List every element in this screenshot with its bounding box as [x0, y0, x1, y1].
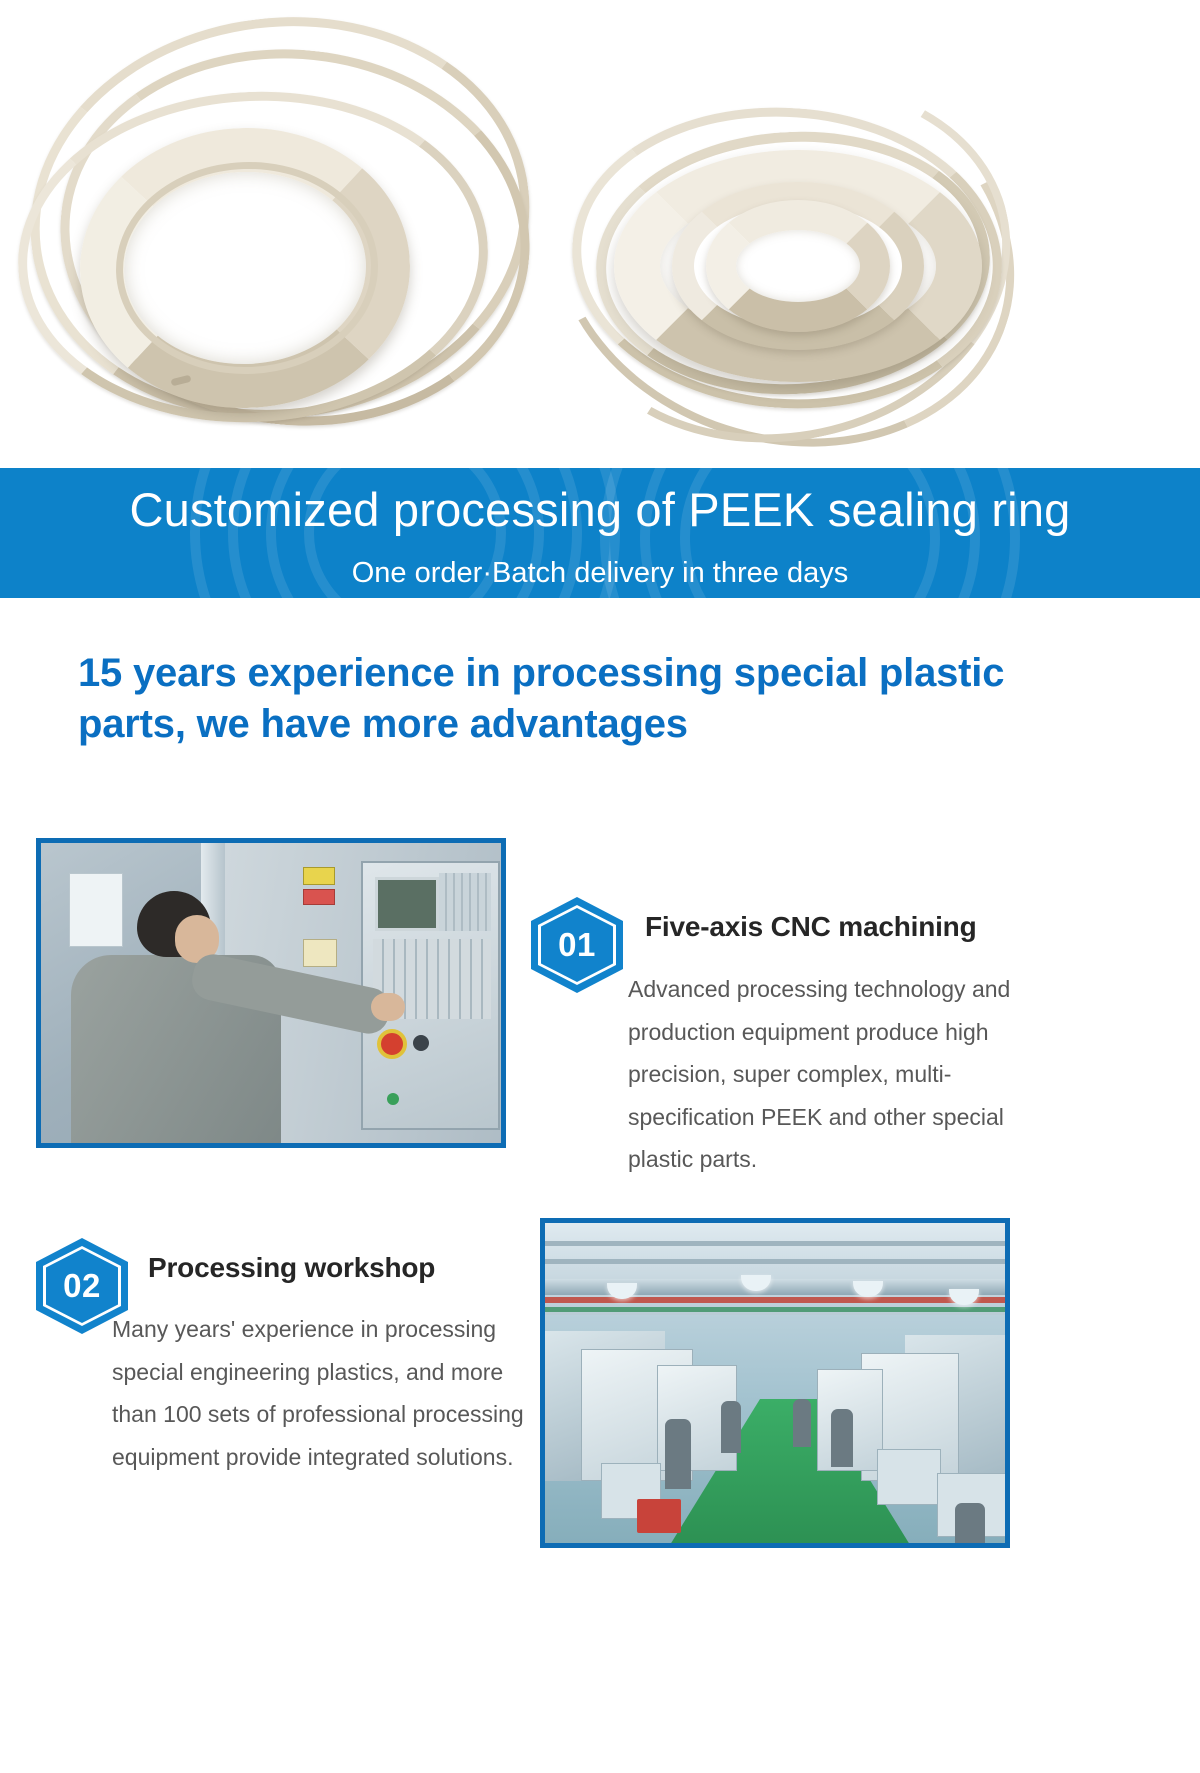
- worker-right-2: [955, 1503, 985, 1543]
- feature-02-title: Processing workshop: [148, 1252, 435, 1284]
- feature-02-description: Many years' experience in processing spe…: [112, 1308, 532, 1478]
- work-cart-right-1: [877, 1449, 941, 1505]
- cnc-status-light: [387, 1093, 399, 1105]
- cnc-selector-knob: [413, 1035, 429, 1051]
- operator-hand: [371, 993, 405, 1021]
- hero-product-photo: [0, 0, 1200, 470]
- workshop-green-pipe: [545, 1307, 1005, 1312]
- warning-label-3: [303, 939, 337, 967]
- promo-banner: Customized processing of PEEK sealing ri…: [0, 468, 1200, 598]
- feature-02-photo-scene: [545, 1223, 1005, 1543]
- cnc-display-screen: [375, 877, 439, 931]
- ceiling-beam-1: [545, 1241, 1005, 1246]
- feature-01-description: Advanced processing technology and produ…: [628, 968, 1058, 1181]
- warning-label-2: [303, 889, 335, 905]
- feature-01-number: 01: [531, 897, 623, 993]
- banner-subtitle: One order·Batch delivery in three days: [0, 533, 1200, 588]
- worker-center-2: [793, 1399, 811, 1447]
- banner-text-group: Customized processing of PEEK sealing ri…: [0, 468, 1200, 588]
- worker-left: [665, 1419, 691, 1489]
- ceiling-beam-2: [545, 1259, 1005, 1264]
- feature-01-photo-scene: [41, 843, 501, 1143]
- worker-center-1: [721, 1401, 741, 1453]
- hero-rings-illustration: [0, 0, 1200, 470]
- section-headline: 15 years experience in processing specia…: [78, 648, 1078, 750]
- emergency-stop-button: [377, 1029, 407, 1059]
- red-trolley: [637, 1499, 681, 1533]
- feature-01-badge: 01: [531, 897, 623, 993]
- banner-title: Customized processing of PEEK sealing ri…: [0, 468, 1200, 533]
- feature-01-title: Five-axis CNC machining: [645, 911, 976, 943]
- worker-right-1: [831, 1409, 853, 1467]
- feature-01-photo: [36, 838, 506, 1148]
- sealing-ring-small-right: [706, 200, 890, 332]
- warning-label-1: [303, 867, 335, 885]
- workshop-red-pipe: [545, 1297, 1005, 1303]
- wall-document-sheet: [69, 873, 123, 947]
- cnc-keypad-upper: [439, 873, 491, 931]
- feature-02-photo: [540, 1218, 1010, 1548]
